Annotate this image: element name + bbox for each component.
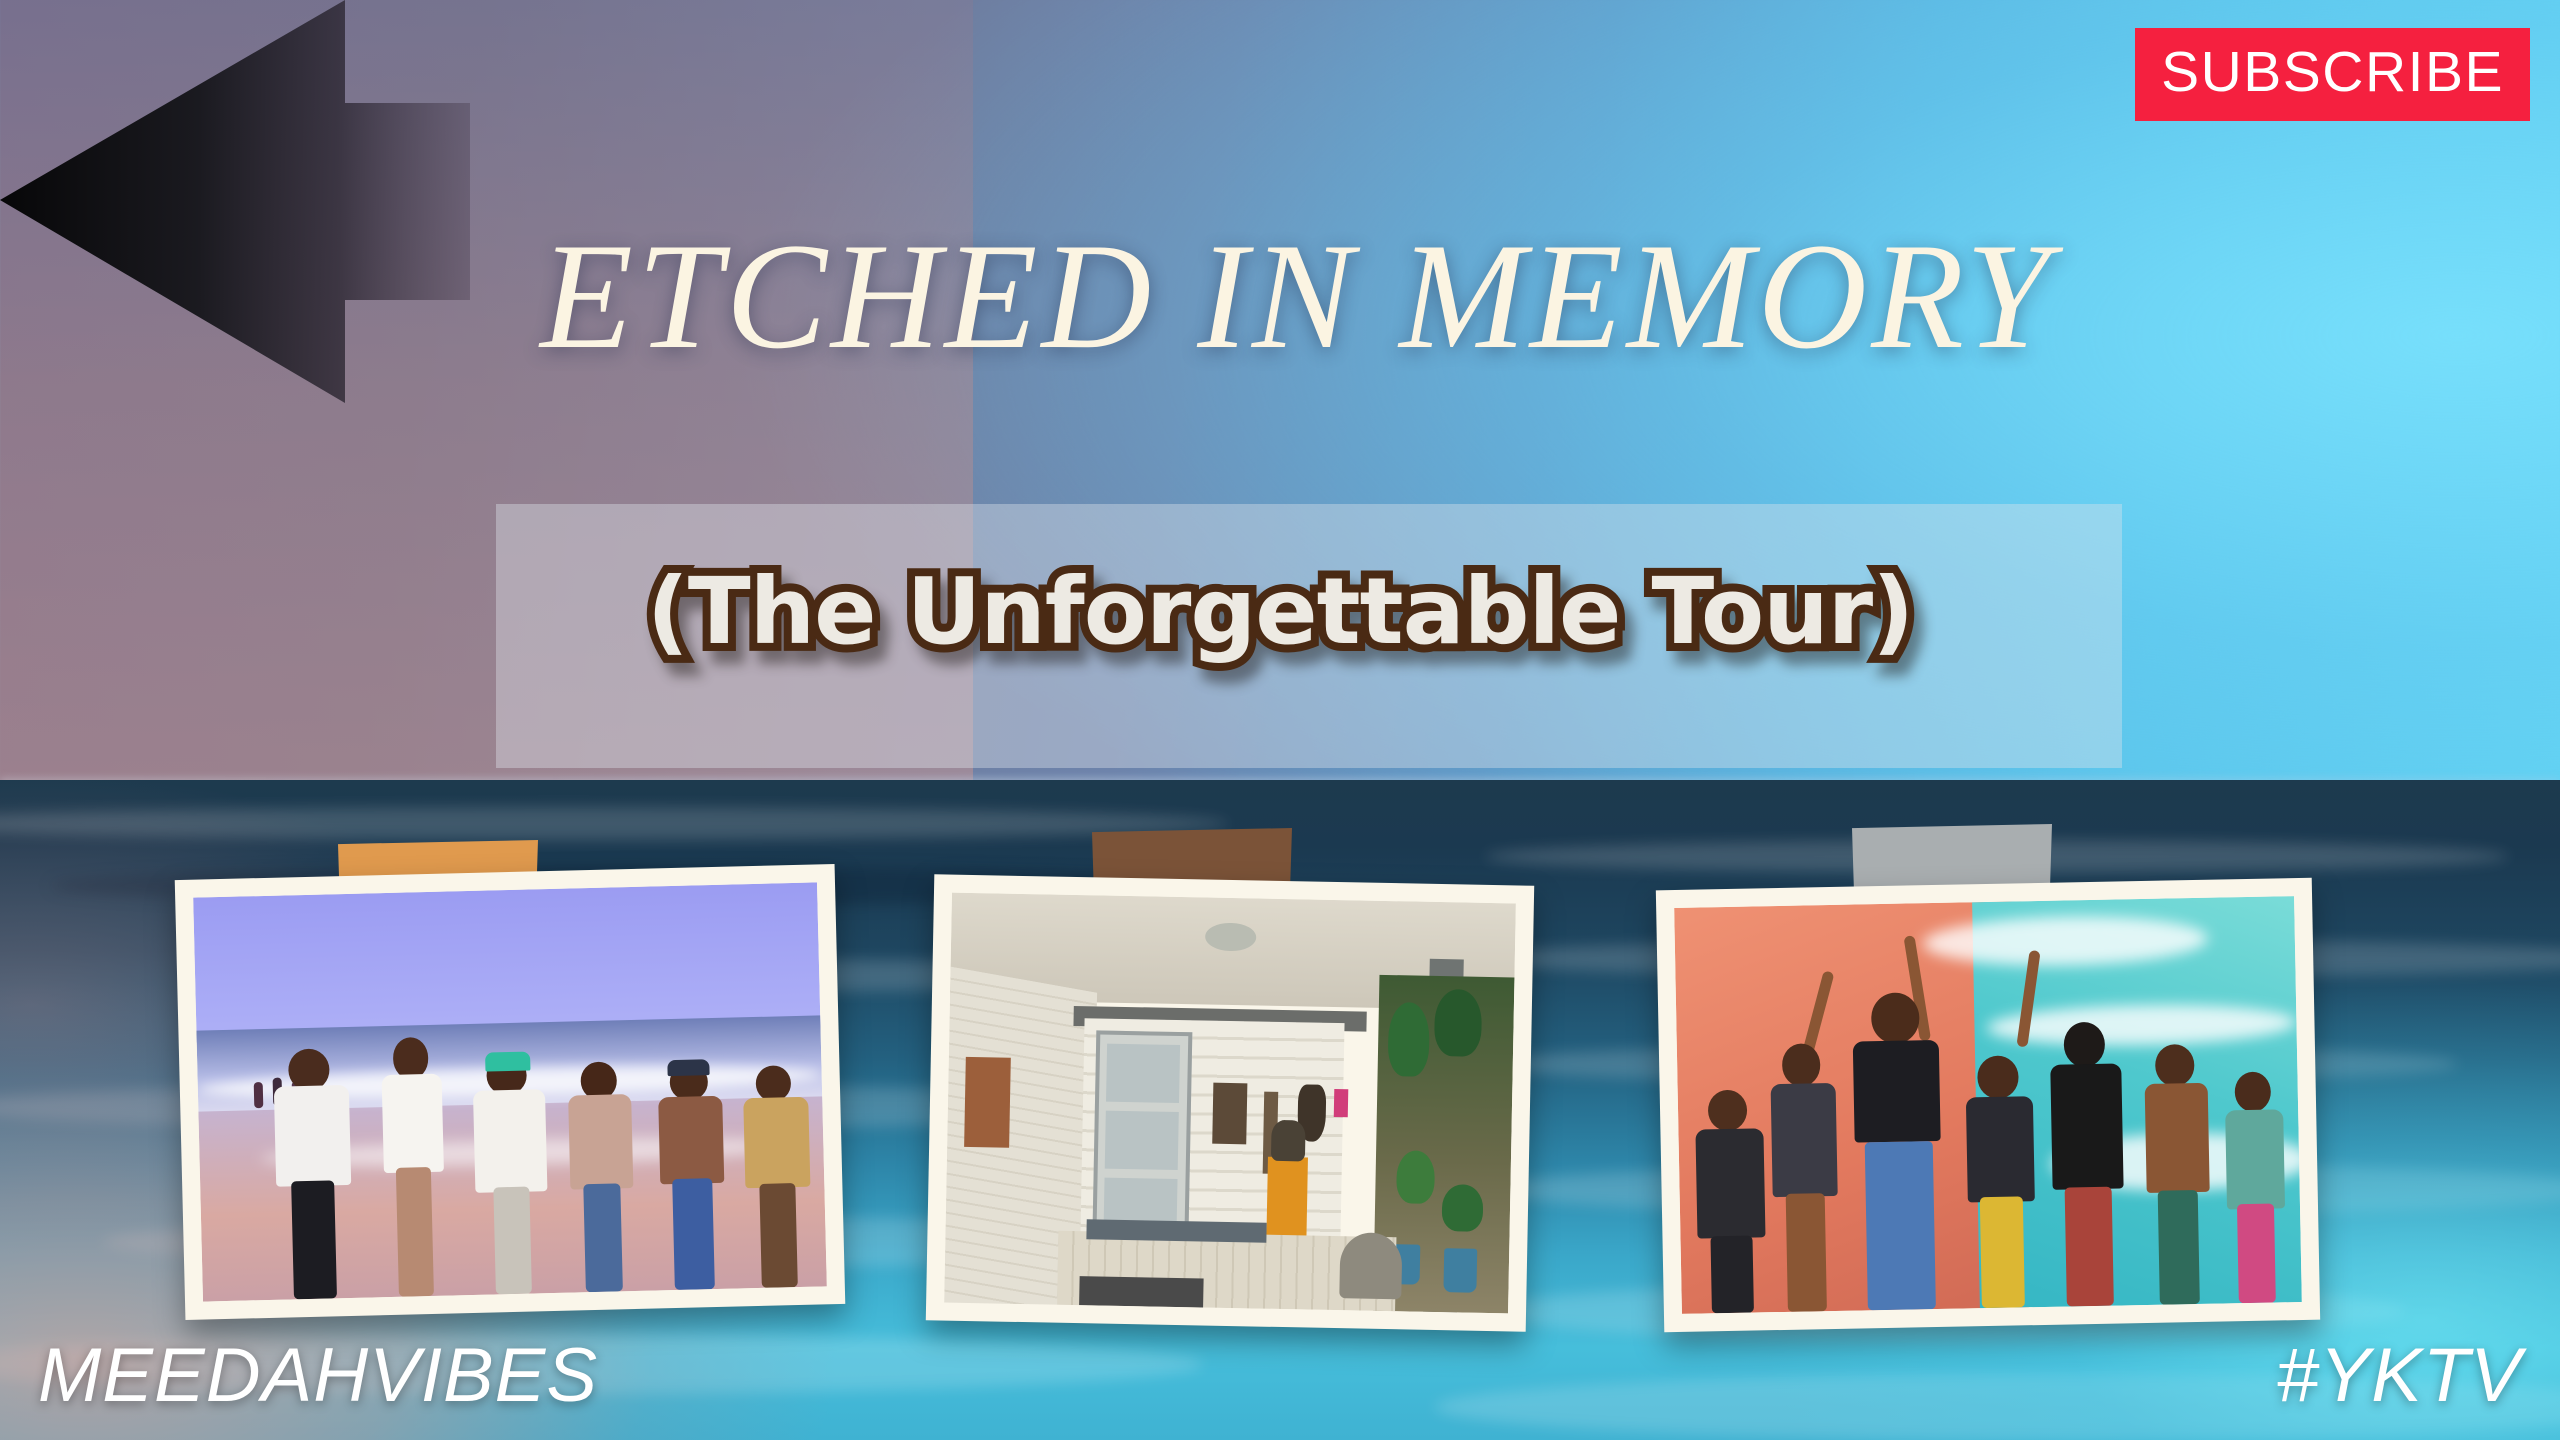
watermark-hashtag: #YKTV [2276, 1338, 2522, 1414]
subscribe-button[interactable]: SUBSCRIBE [2135, 28, 2530, 121]
page-subtitle: (The Unforgettable Tour) [0, 560, 2560, 663]
watermark-channel-name: MEEDAHVIBES [38, 1338, 598, 1414]
polaroid-beach-walk[interactable] [175, 864, 846, 1320]
photo-beach-walk [193, 882, 827, 1301]
photo-museum-entrance [944, 893, 1516, 1314]
thumbnail-canvas: SUBSCRIBE ETCHED IN MEMORY (The Unforget… [0, 0, 2560, 1440]
photo-group-cheering [1674, 896, 2302, 1314]
washi-tape-gray [1852, 824, 2052, 892]
polaroid-group-cheering[interactable] [1656, 878, 2320, 1333]
polaroid-museum-entrance[interactable] [926, 874, 1534, 1331]
page-title: ETCHED IN MEMORY [0, 220, 2560, 372]
